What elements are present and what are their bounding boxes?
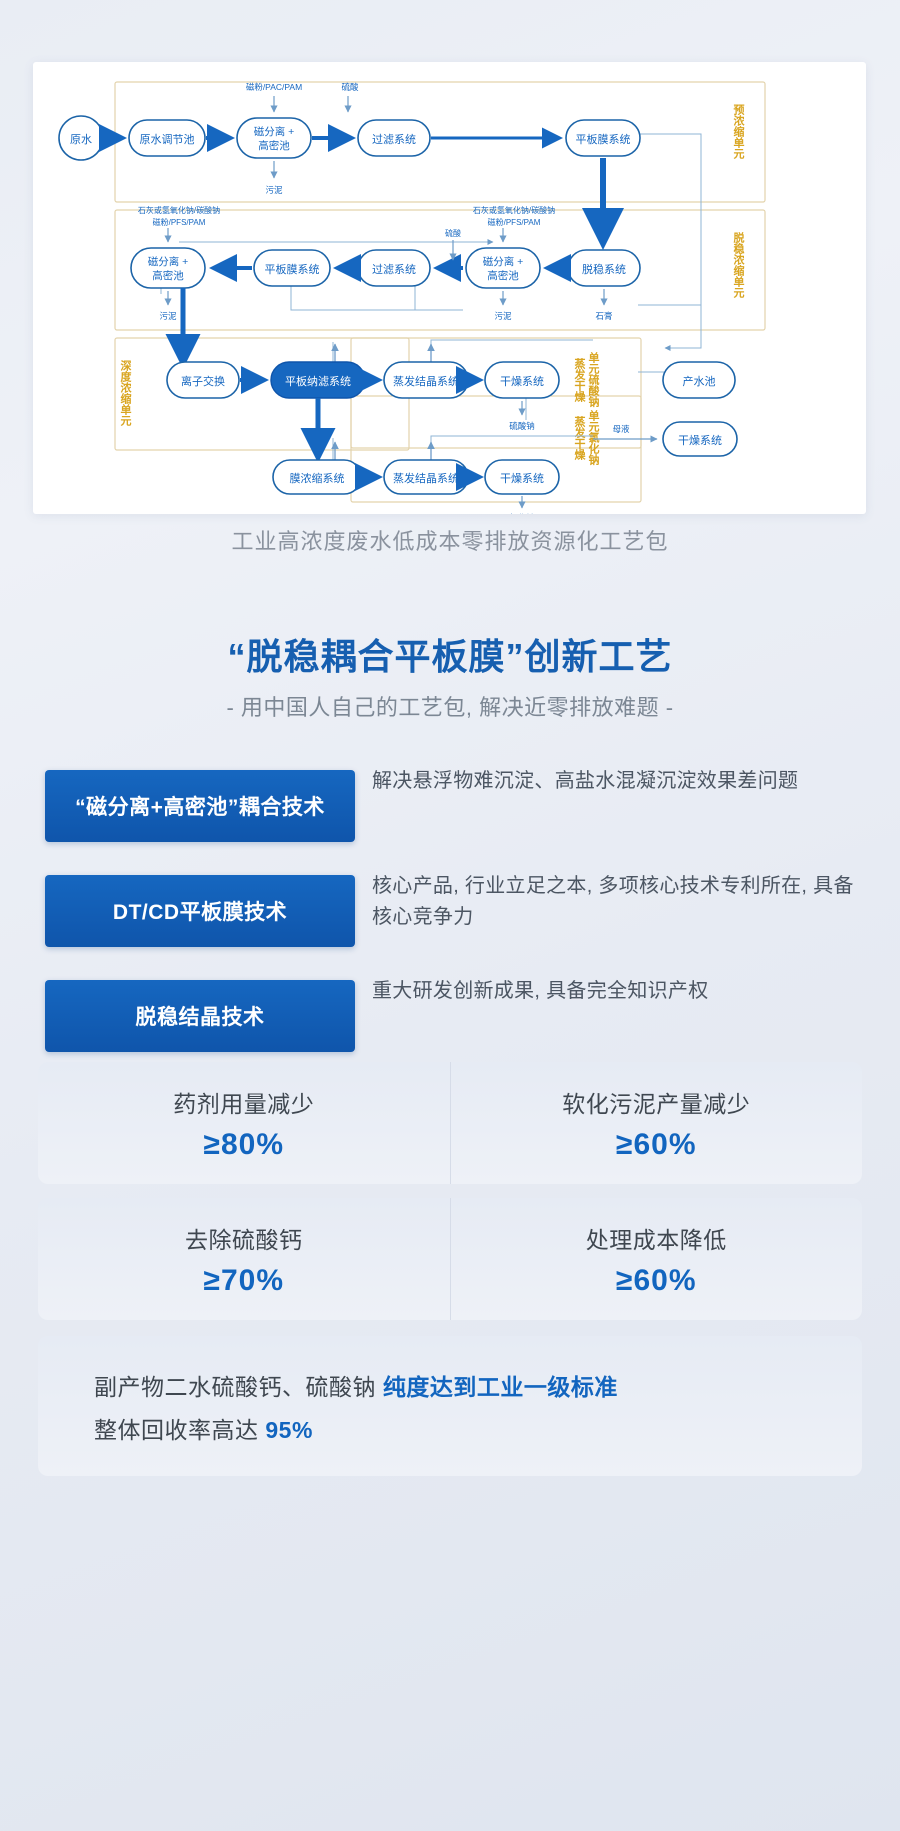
- edge-label-motherliquor: 母液: [612, 424, 630, 434]
- stat-card: 药剂用量减少 ≥80% 软化污泥产量减少 ≥60%: [38, 1062, 862, 1184]
- stat-label: 处理成本降低: [586, 1221, 727, 1255]
- node-dry1: 干燥系统: [500, 375, 544, 388]
- node-dry2: 干燥系统: [500, 472, 544, 485]
- diagram-row-4: 膜浓缩系统 蒸发结晶系统 干燥系统 氯化钠: [273, 460, 559, 514]
- node-prodpool: 产水池: [683, 374, 716, 388]
- node-mag3-a: 磁分离 +: [483, 255, 524, 268]
- technology-row: “磁分离+高密池”耦合技术 解决悬浮物难沉淀、高盐水混凝沉淀效果差问题: [0, 770, 900, 860]
- edge-label-acid2: 硫酸: [445, 228, 461, 238]
- summary-line-1-highlight: 纯度达到工业一级标准: [383, 1374, 618, 1400]
- edge-label-dose1: 磁粉/PAC/PAM: [246, 82, 302, 92]
- technology-description: 解决悬浮物难沉淀、高盐水混凝沉淀效果差问题: [372, 766, 862, 797]
- stat-value: ≥80%: [203, 1128, 284, 1162]
- stat-card: 去除硫酸钙 ≥70% 处理成本降低 ≥60%: [38, 1198, 862, 1320]
- technology-name-badge[interactable]: DT/CD平板膜技术: [45, 875, 355, 947]
- node-evap2: 蒸发结晶系统: [393, 471, 459, 485]
- node-filter1: 过滤系统: [372, 133, 416, 146]
- stat-value: ≥70%: [203, 1264, 284, 1298]
- stat-item: 去除硫酸钙 ≥70%: [38, 1198, 450, 1320]
- technology-list: “磁分离+高密池”耦合技术 解决悬浮物难沉淀、高盐水混凝沉淀效果差问题 DT/C…: [0, 770, 900, 1085]
- summary-line-1-text: 副产物二水硫酸钙、硫酸钠: [94, 1374, 383, 1400]
- node-flat2: 平板膜系统: [265, 262, 320, 276]
- edge-label-dose3-a: 石灰或氢氧化钠/碳酸钠: [473, 205, 555, 215]
- summary-line-1: 副产物二水硫酸钙、硫酸钠 纯度达到工业一级标准: [94, 1366, 862, 1409]
- diagram-row-1: 原水 原水调节池 磁分离 + 高密池 过滤系统 平板膜系统: [59, 82, 640, 195]
- stat-item: 软化污泥产量减少 ≥60%: [450, 1062, 863, 1184]
- diagram-caption: 工业高浓度废水低成本零排放资源化工艺包: [0, 524, 900, 556]
- stat-label: 去除硫酸钙: [185, 1221, 303, 1255]
- node-destabsys: 脱稳系统: [582, 262, 626, 276]
- technology-name-badge[interactable]: 脱稳结晶技术: [45, 980, 355, 1052]
- statistics-section: 药剂用量减少 ≥80% 软化污泥产量减少 ≥60% 去除硫酸钙 ≥70% 处理成…: [0, 1062, 900, 1476]
- node-tank: 原水调节池: [140, 133, 195, 146]
- node-raw: 原水: [70, 133, 92, 146]
- stat-item: 处理成本降低 ≥60%: [450, 1198, 863, 1320]
- edge-label-naclout: 氯化钠: [509, 513, 535, 514]
- edge-label-acid1: 硫酸: [341, 82, 359, 92]
- edge-label-gypsum: 石膏: [595, 311, 612, 321]
- stat-label: 软化污泥产量减少: [562, 1085, 750, 1119]
- page-title: “脱稳耦合平板膜”创新工艺: [0, 628, 900, 680]
- process-flow-diagram: 预浓缩单元 脱稳浓缩单元 深度浓缩单元 单元硫酸钠 蒸发干燥 单元氯化钠 蒸发干…: [33, 62, 866, 514]
- node-flat1: 平板膜系统: [576, 132, 631, 146]
- node-mag2-b: 高密池: [152, 269, 184, 282]
- summary-line-2: 整体回收率高达 95%: [94, 1409, 862, 1452]
- edge-label-dose2-a: 石灰或氢氧化钠/碳酸钠: [138, 205, 220, 215]
- technology-description: 核心产品, 行业立足之本, 多项核心技术专利所在, 具备核心竞争力: [372, 871, 862, 933]
- page-root: 预浓缩单元 脱稳浓缩单元 深度浓缩单元 单元硫酸钠 蒸发干燥 单元氯化钠 蒸发干…: [0, 0, 900, 1831]
- process-flow-diagram-card: 预浓缩单元 脱稳浓缩单元 深度浓缩单元 单元硫酸钠 蒸发干燥 单元氯化钠 蒸发干…: [33, 62, 866, 514]
- technology-row: 脱稳结晶技术 重大研发创新成果, 具备完全知识产权: [0, 980, 900, 1070]
- technology-description: 重大研发创新成果, 具备完全知识产权: [372, 976, 862, 1007]
- technology-name-badge[interactable]: “磁分离+高密池”耦合技术: [45, 770, 355, 842]
- stat-label: 药剂用量减少: [173, 1085, 314, 1119]
- unit-label-pre: 预浓缩单元: [732, 103, 745, 160]
- node-mag1-a: 磁分离 +: [254, 125, 295, 138]
- unit-label-na2so4: 单元硫酸钠: [587, 351, 600, 408]
- summary-card: 副产物二水硫酸钙、硫酸钠 纯度达到工业一级标准 整体回收率高达 95%: [38, 1336, 862, 1476]
- summary-line-2-highlight: 95%: [265, 1417, 313, 1443]
- unit-label-destab: 脱稳浓缩单元: [732, 231, 745, 299]
- edge-label-na2so4out: 硫酸钠: [509, 421, 535, 431]
- node-ion: 离子交换: [181, 374, 225, 388]
- node-nf: 平板纳滤系统: [285, 374, 351, 388]
- stat-value: ≥60%: [616, 1128, 697, 1162]
- diagram-row-3: 离子交换 平板纳滤系统 蒸发结晶系统 干燥系统 硫酸: [167, 362, 737, 456]
- node-filter2: 过滤系统: [372, 263, 416, 276]
- node-memconc: 膜浓缩系统: [290, 472, 345, 485]
- diagram-row-2: 磁分离 + 高密池 平板膜系统 过滤系统 磁分离 + 高密池 脱稳系统: [131, 205, 640, 321]
- node-mag1-b: 高密池: [258, 139, 290, 152]
- node-mag2-a: 磁分离 +: [148, 255, 189, 268]
- node-evap1: 蒸发结晶系统: [393, 374, 459, 388]
- unit-label-nacl: 单元氯化钠: [587, 409, 600, 466]
- node-dry3: 干燥系统: [678, 434, 722, 447]
- unit-label-na2so4b: 蒸发干燥: [573, 357, 587, 403]
- unit-label-deep: 深度浓缩单元: [119, 359, 132, 427]
- stat-item: 药剂用量减少 ≥80%: [38, 1062, 450, 1184]
- edge-label-dose3-b: 磁粉/PFS/PAM: [488, 217, 541, 227]
- edge-label-dose2-b: 磁粉/PFS/PAM: [153, 217, 206, 227]
- stat-value: ≥60%: [616, 1264, 697, 1298]
- summary-line-2-text: 整体回收率高达: [94, 1417, 265, 1443]
- page-subtitle: - 用中国人自己的工艺包, 解决近零排放难题 -: [0, 690, 900, 722]
- technology-row: DT/CD平板膜技术 核心产品, 行业立足之本, 多项核心技术专利所在, 具备核…: [0, 875, 900, 965]
- edge-label-sludge1: 污泥: [265, 185, 283, 195]
- node-mag3-b: 高密池: [487, 269, 519, 282]
- unit-label-naclb: 蒸发干燥: [573, 415, 587, 461]
- edge-label-sludge2: 污泥: [159, 311, 177, 321]
- edge-label-sludge3: 污泥: [494, 311, 512, 321]
